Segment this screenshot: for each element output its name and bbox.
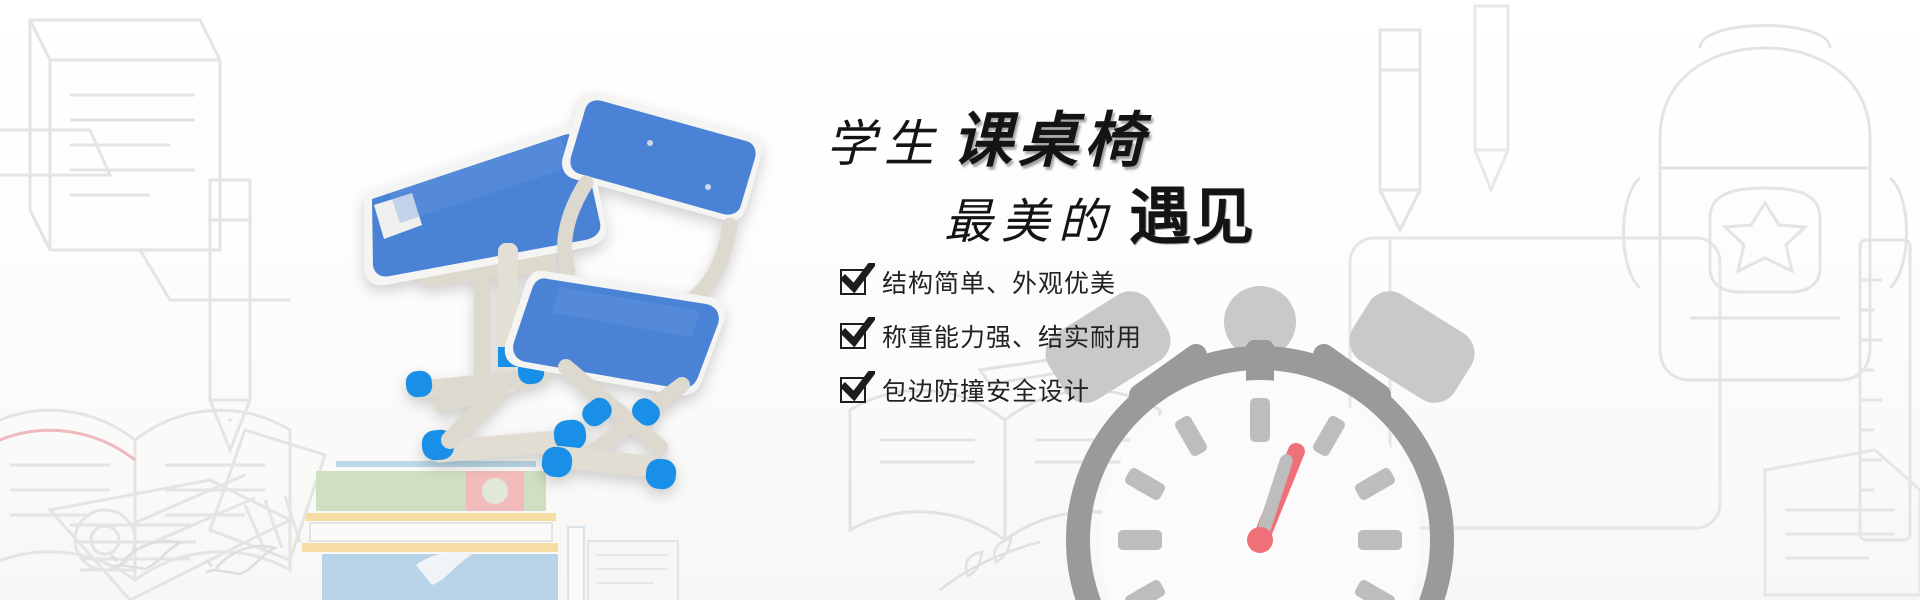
banner-copy: 学生课桌椅 最美的遇见 结构简单、外观优美 称重能力强、结实耐用	[818, 92, 1248, 242]
backpack-line-art	[1600, 18, 1920, 418]
book-red-edge-line-art	[0, 395, 300, 475]
headline-strong-1: 课桌椅	[952, 108, 1150, 174]
dove-line-art	[105, 525, 195, 585]
notebook-line-art	[0, 0, 350, 330]
student-desk-and-chair-photo	[330, 75, 780, 505]
open-book-line-art	[0, 370, 300, 600]
checkbox-checked-icon	[840, 269, 866, 295]
feature-label: 结构简单、外观优美	[882, 264, 1116, 300]
headline-soft-2: 最美的	[944, 196, 1115, 249]
pen-line-art	[1430, 0, 1560, 210]
promo-banner: 学生课桌椅 最美的遇见 结构简单、外观优美 称重能力强、结实耐用	[0, 0, 1920, 600]
magazine-line-art	[40, 470, 340, 600]
headline-line-2: 最美的遇见	[944, 166, 1255, 256]
feature-label: 称重能力强、结实耐用	[882, 318, 1142, 354]
headline-soft-1: 学生	[826, 116, 942, 172]
list-item: 包边防撞安全设计	[840, 368, 1142, 412]
headline: 学生课桌椅 最美的遇见	[818, 92, 1248, 242]
feature-list: 结构简单、外观优美 称重能力强、结实耐用 包边防撞安全设计	[840, 260, 1142, 422]
ruler-line-art	[1840, 230, 1920, 560]
list-item: 结构简单、外观优美	[840, 260, 1142, 304]
paper-line-art	[1755, 430, 1920, 600]
list-item: 称重能力强、结实耐用	[840, 314, 1142, 358]
desk-lamp-line-art	[60, 420, 360, 600]
pencil-line-art	[150, 150, 330, 480]
checkbox-checked-icon	[840, 323, 866, 349]
dove-line-art	[200, 530, 290, 590]
headline-strong-2: 遇见	[1129, 183, 1255, 252]
checkbox-checked-icon	[840, 377, 866, 403]
feature-label: 包边防撞安全设计	[882, 372, 1090, 408]
